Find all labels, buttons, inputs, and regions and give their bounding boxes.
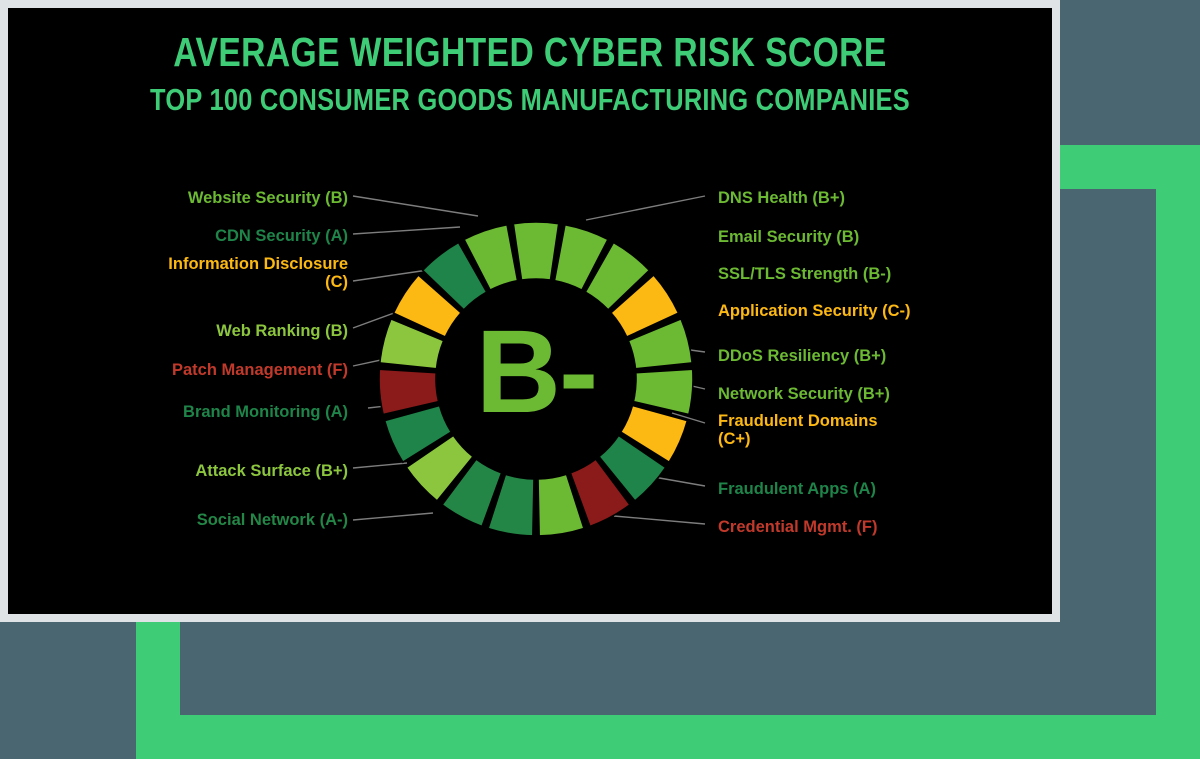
screenshot-root: AVERAGE WEIGHTED CYBER RISK SCORE TOP 10… [0, 0, 1200, 759]
chart-label[interactable]: Network Security (B+) [718, 386, 890, 404]
infographic-card: AVERAGE WEIGHTED CYBER RISK SCORE TOP 10… [0, 0, 1060, 622]
chart-label[interactable]: Information Disclosure (C) [38, 256, 348, 292]
chart-label[interactable]: SSL/TLS Strength (B-) [718, 266, 891, 284]
chart-label[interactable]: Website Security (B) [38, 190, 348, 208]
donut-segment[interactable] [513, 222, 558, 280]
chart-label[interactable]: Attack Surface (B+) [38, 463, 348, 481]
chart-label[interactable]: Fraudulent Domains (C+) [718, 413, 878, 449]
chart-label[interactable]: Web Ranking (B) [38, 323, 348, 341]
accent-frame-right [1156, 145, 1200, 759]
chart-label[interactable]: Brand Monitoring (A) [38, 404, 348, 422]
chart-label[interactable]: CDN Security (A) [38, 228, 348, 246]
donut-chart: B- Website Security (B)CDN Security (A)I… [8, 8, 1052, 614]
chart-label[interactable]: Fraudulent Apps (A) [718, 481, 876, 499]
chart-label[interactable]: Credential Mgmt. (F) [718, 519, 878, 537]
center-grade: B- [406, 313, 666, 431]
chart-label[interactable]: DNS Health (B+) [718, 190, 845, 208]
chart-label[interactable]: Application Security (C-) [718, 303, 911, 321]
chart-label[interactable]: DDoS Resiliency (B+) [718, 348, 886, 366]
chart-label[interactable]: Email Security (B) [718, 229, 859, 247]
card-inner: AVERAGE WEIGHTED CYBER RISK SCORE TOP 10… [8, 8, 1052, 614]
chart-label[interactable]: Social Network (A-) [38, 512, 348, 530]
accent-frame-bottom [136, 715, 1200, 759]
chart-label[interactable]: Patch Management (F) [38, 362, 348, 380]
